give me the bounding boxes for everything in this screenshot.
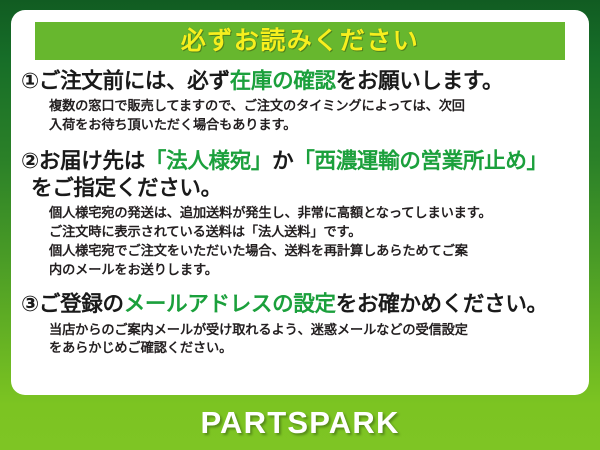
notice-item-2-heading: ②お届け先は「法人様宛」か「西濃運輸の営業所止め」 [21, 148, 581, 175]
item-2-heading-highlight-corporate: 「法人様宛」 [145, 149, 272, 173]
item-2-body-line-2: ご注文時に表示されている送料は「法人送料」です。 [49, 223, 581, 242]
item-2-heading-mid: か [272, 149, 293, 173]
item-3-body-line-1: 当店からのご案内メールが受け取れるよう、迷惑メールなどの受信設定 [49, 321, 581, 340]
item-2-body-line-4: 内のメールをお送りします。 [49, 261, 581, 280]
item-1-heading-highlight: 在庫の確認 [230, 69, 336, 93]
item-2-marker: ② [21, 149, 39, 173]
notice-item-2-body: 個人様宅宛の発送は、追加送料が発生し、非常に高額となってしまいます。 ご注文時に… [21, 202, 581, 279]
notice-item-1-heading: ①ご注文前には、必ず在庫の確認をお願いします。 [21, 68, 581, 95]
notice-item-3-heading: ③ご登録のメールアドレスの設定をお確かめください。 [21, 291, 581, 318]
notice-items-list: ①ご注文前には、必ず在庫の確認をお願いします。 複数の窓口で販売してますので、ご… [11, 68, 589, 358]
item-1-heading-post: をお願いします。 [336, 69, 503, 93]
item-1-body-line-2: 入荷をお待ち頂いただく場合もあります。 [49, 116, 581, 135]
item-1-marker: ① [21, 69, 39, 93]
header-banner: 必ずお読みください [35, 22, 565, 60]
notice-item-1-body: 複数の窓口で販売してますので、ご注文のタイミングによっては、次回 入荷をお待ち頂… [21, 95, 581, 134]
notice-item-3: ③ご登録のメールアドレスの設定をお確かめください。 当店からのご案内メールが受け… [11, 291, 589, 358]
item-2-body-line-1: 個人様宅宛の発送は、追加送料が発生し、非常に高額となってしまいます。 [49, 204, 581, 223]
item-3-body-line-2: をあらかじめご確認ください。 [49, 339, 581, 358]
item-3-heading-post: をお確かめください。 [336, 292, 548, 316]
footer-brand-bar: PARTSPARK [0, 395, 600, 450]
notice-item-1: ①ご注文前には、必ず在庫の確認をお願いします。 複数の窓口で販売してますので、ご… [11, 68, 589, 135]
item-1-heading-pre: ご注文前には、必ず [39, 69, 230, 93]
notice-banner-root: 必ずお読みください ①ご注文前には、必ず在庫の確認をお願いします。 複数の窓口で… [0, 0, 600, 450]
header-banner-title: 必ずお読みください [181, 29, 420, 54]
item-1-body-line-1: 複数の窓口で販売してますので、ご注文のタイミングによっては、次回 [49, 97, 581, 116]
notice-item-2-heading-line2: をご指定ください。 [21, 175, 581, 202]
notice-item-3-body: 当店からのご案内メールが受け取れるよう、迷惑メールなどの受信設定 をあらかじめご… [21, 319, 581, 358]
item-3-heading-highlight: メールアドレスの設定 [124, 292, 336, 316]
brand-logo-text: PARTSPARK [200, 407, 399, 438]
item-3-heading-pre: ご登録の [39, 292, 124, 316]
notice-card: 必ずお読みください ①ご注文前には、必ず在庫の確認をお願いします。 複数の窓口で… [11, 10, 589, 395]
item-2-heading-highlight-seino: 「西濃運輸の営業所止め」 [293, 149, 547, 173]
item-2-body-line-3: 個人様宅宛でご注文をいただいた場合、送料を再計算しあらためてご案 [49, 242, 581, 261]
notice-item-2: ②お届け先は「法人様宛」か「西濃運輸の営業所止め」 をご指定ください。 個人様宅… [11, 148, 589, 280]
item-2-heading-pre: お届け先は [39, 149, 145, 173]
item-3-marker: ③ [21, 292, 39, 316]
